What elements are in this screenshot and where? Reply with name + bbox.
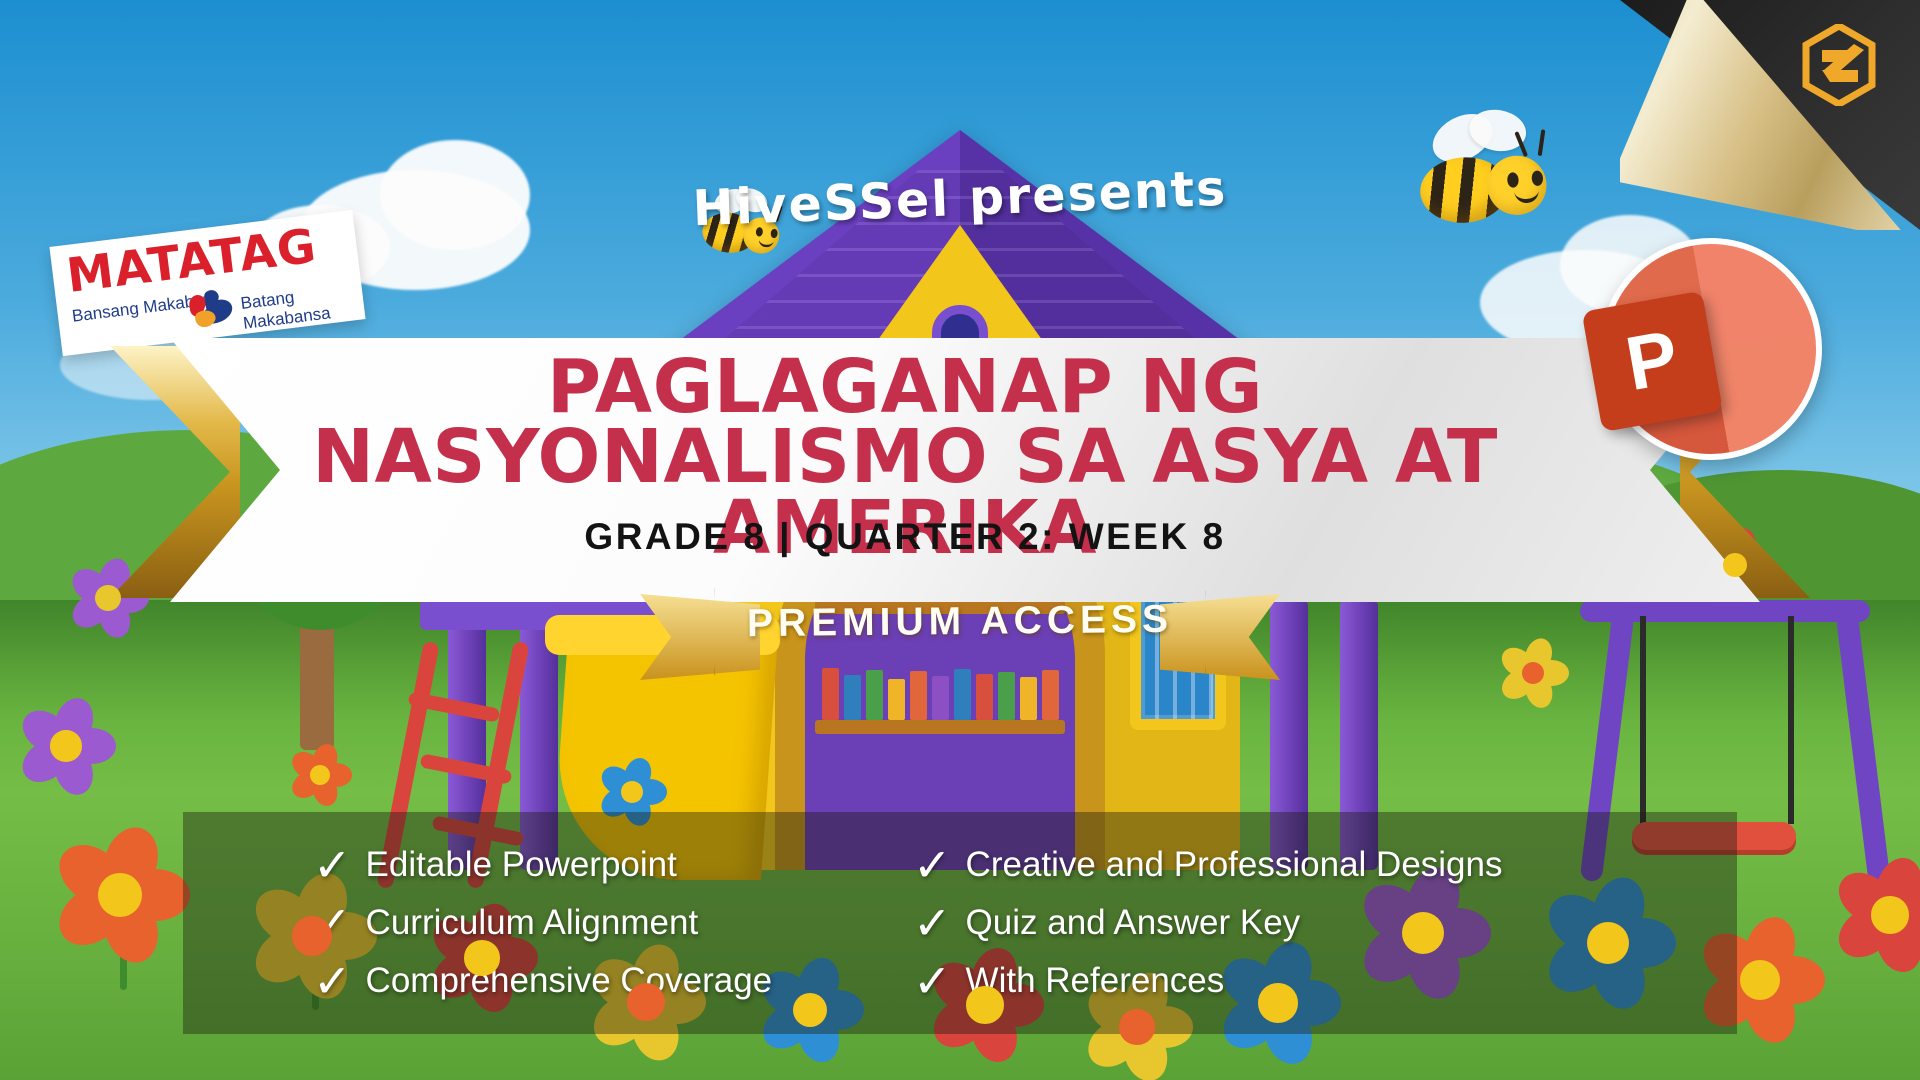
features-panel: ✓ Editable Powerpoint ✓ Curriculum Align…	[183, 812, 1737, 1034]
flower-icon	[290, 745, 350, 805]
cloud-icon	[380, 140, 530, 250]
check-icon: ✓	[913, 900, 952, 946]
check-icon: ✓	[313, 842, 352, 888]
powerpoint-letter: P	[1582, 291, 1723, 432]
premium-access-ribbon: PREMIUM ACCESS	[640, 578, 1280, 698]
swing-icon	[1640, 616, 1646, 824]
feature-label: With References	[966, 961, 1225, 1001]
feature-label: Comprehensive Coverage	[366, 961, 773, 1001]
hivessel-hexagon-logo-icon	[1802, 24, 1876, 106]
feature-label: Creative and Professional Designs	[966, 845, 1503, 885]
flower-icon	[20, 700, 112, 792]
check-icon: ✓	[913, 842, 952, 888]
hands-heart-icon	[184, 283, 241, 333]
feature-label: Curriculum Alignment	[366, 903, 699, 943]
list-item: ✓ Comprehensive Coverage	[313, 952, 772, 1010]
list-item: ✓ Curriculum Alignment	[313, 894, 772, 952]
check-icon: ✓	[313, 958, 352, 1004]
check-icon: ✓	[913, 958, 952, 1004]
premium-badge-label: PREMIUM ACCESS	[714, 597, 1206, 646]
title-banner: Paglaganap ng Nasyonalismo sa Asya at Am…	[110, 338, 1810, 608]
promotional-poster: MATATAG Bansang Makabata Batang Makabans…	[0, 0, 1920, 1080]
flower-icon	[1835, 860, 1920, 970]
page-subtitle: GRADE 8 | QUARTER 2: WEEK 8	[260, 516, 1550, 558]
list-item: ✓ Editable Powerpoint	[313, 836, 772, 894]
flower-icon	[55, 830, 185, 960]
feature-label: Editable Powerpoint	[366, 845, 677, 885]
flower-icon	[1500, 640, 1566, 706]
features-left-column: ✓ Editable Powerpoint ✓ Curriculum Align…	[313, 836, 772, 1010]
feature-label: Quiz and Answer Key	[966, 903, 1301, 943]
swing-icon	[1788, 616, 1794, 824]
list-item: ✓ Creative and Professional Designs	[913, 836, 1503, 894]
